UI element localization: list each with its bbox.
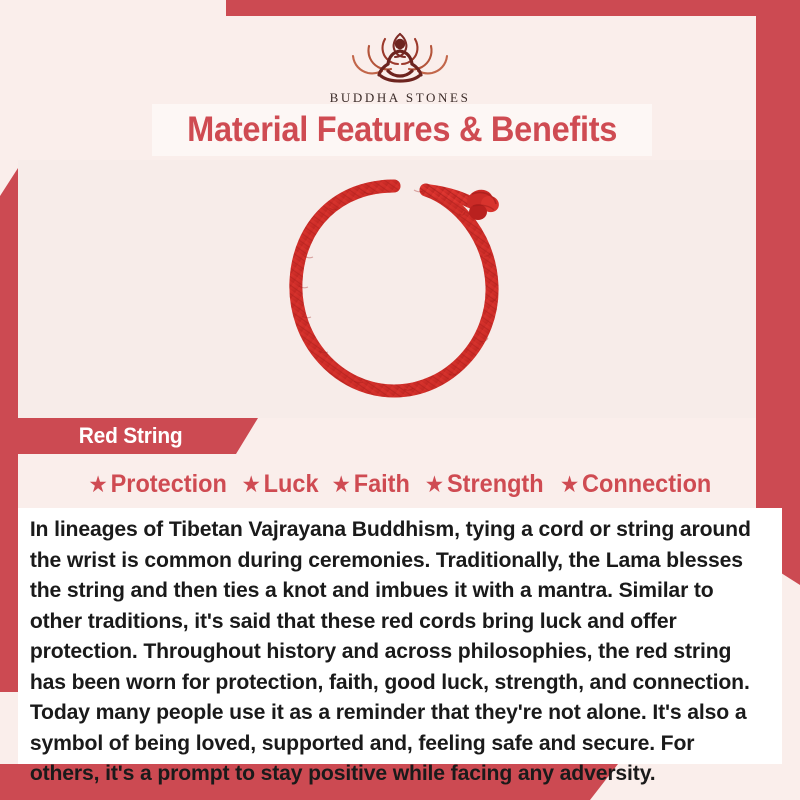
star-icon: ★	[560, 473, 579, 496]
benefit-item-protection: ★ Protection	[85, 470, 231, 499]
brand-logo: BUDDHA STONES	[0, 18, 800, 106]
poster-root: BUDDHA STONES Material Features & Benefi…	[0, 0, 800, 800]
benefit-item-connection: ★ Connection	[556, 470, 715, 499]
benefits-list: ★ Protection ★ Luck ★ Faith ★ Strength ★…	[18, 462, 782, 506]
title-banner: Material Features & Benefits	[152, 104, 652, 156]
star-icon: ★	[424, 473, 443, 496]
benefit-label: Connection	[582, 470, 711, 499]
product-label: Red String	[79, 423, 183, 449]
product-image	[18, 160, 756, 418]
decorative-bar-left	[0, 168, 18, 692]
star-icon: ★	[332, 473, 351, 496]
benefit-label: Luck	[264, 470, 319, 499]
product-label-banner: Red String	[18, 418, 258, 454]
benefit-label: Protection	[111, 470, 227, 499]
benefit-label: Faith	[354, 470, 410, 499]
description-panel: In lineages of Tibetan Vajrayana Buddhis…	[18, 508, 782, 764]
lotus-meditation-icon	[325, 18, 475, 88]
benefit-item-faith: ★ Faith	[328, 470, 414, 499]
description-text: In lineages of Tibetan Vajrayana Buddhis…	[18, 508, 771, 789]
benefit-item-strength: ★ Strength	[421, 470, 547, 499]
star-icon: ★	[88, 473, 107, 496]
decorative-bar-top	[226, 0, 800, 16]
page-title: Material Features & Benefits	[187, 110, 617, 150]
benefit-label: Strength	[447, 470, 544, 499]
benefit-item-luck: ★ Luck	[238, 470, 323, 499]
star-icon: ★	[242, 473, 261, 496]
red-braided-string-bracelet-icon	[244, 160, 544, 418]
